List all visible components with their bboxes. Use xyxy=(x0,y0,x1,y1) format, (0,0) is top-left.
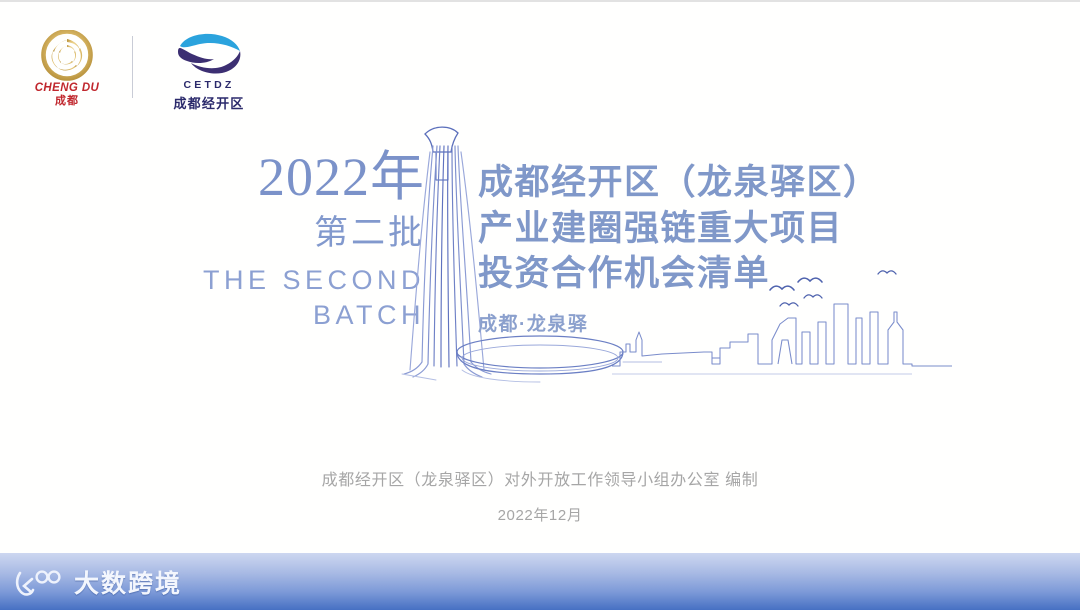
title-line-3: 投资合作机会清单 xyxy=(478,251,880,297)
footer-date: 2022年12月 xyxy=(0,504,1080,525)
chengdu-sunbird-emblem xyxy=(35,30,99,82)
cetdz-han-text: 成都经开区 xyxy=(173,93,244,112)
logo-divider xyxy=(132,36,133,98)
english-title-line-1: THE SECOND xyxy=(150,263,425,299)
chengdu-latin-text: CHENG DU xyxy=(35,83,100,95)
logo-bar: CHENG DU 成都 CETDZ 成都经开区 xyxy=(28,30,257,110)
watermark-bar: 大数跨境 xyxy=(0,553,1080,610)
chengdu-han-text: 成都 xyxy=(35,96,100,107)
footer-block: 成都经开区（龙泉驿区）对外开放工作领导小组办公室 编制 2022年12月 xyxy=(0,470,1080,525)
footer-organization: 成都经开区（龙泉驿区）对外开放工作领导小组办公室 编制 xyxy=(0,470,1080,492)
chengdu-logo: CHENG DU 成都 xyxy=(28,30,106,107)
cetdz-logo: CETDZ 成都经开区 xyxy=(161,30,257,112)
english-title-line-2: BATCH xyxy=(150,298,425,334)
title-line-1: 成都经开区（龙泉驿区） xyxy=(478,160,880,206)
cetdz-emblem xyxy=(170,30,248,76)
chengdu-wordmark: CHENG DU 成都 xyxy=(35,83,100,107)
title-subtitle: 成都·龙泉驿 xyxy=(478,309,880,336)
cover-slide: CHENG DU 成都 CETDZ 成都经开区 2022年 第二批 THE SE… xyxy=(0,0,1080,610)
year-label: 2022年 xyxy=(150,150,425,204)
k100-logo-icon xyxy=(12,567,68,597)
title-line-2: 产业建圈强链重大项目 xyxy=(478,206,880,252)
top-hairline xyxy=(0,0,1080,2)
left-title-block: 2022年 第二批 THE SECOND BATCH xyxy=(150,150,425,334)
watermark-text: 大数跨境 xyxy=(74,564,182,600)
batch-label: 第二批 xyxy=(150,212,425,255)
cetdz-latin-text: CETDZ xyxy=(184,79,235,91)
right-title-block: 成都经开区（龙泉驿区） 产业建圈强链重大项目 投资合作机会清单 成都·龙泉驿 xyxy=(478,160,880,336)
